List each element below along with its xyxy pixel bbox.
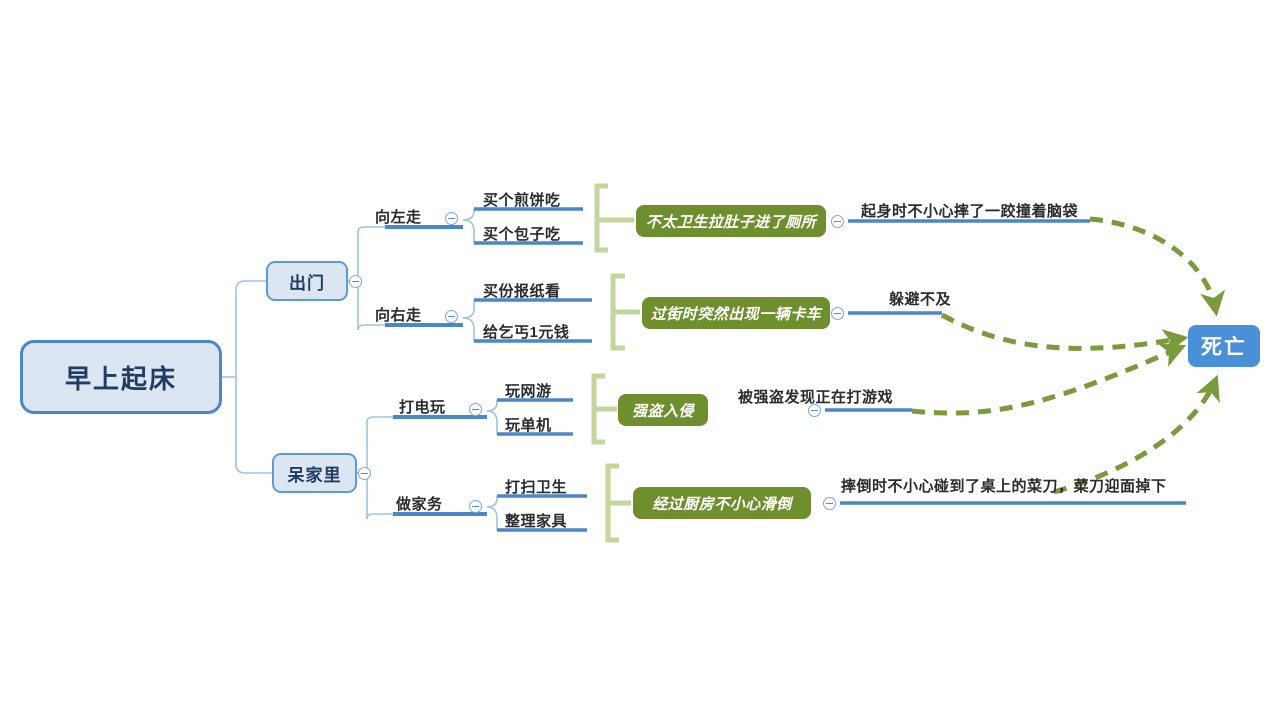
subbranch-label-xiangzuozou[interactable]: 向左走 — [375, 206, 422, 227]
level3-underlines — [385, 227, 487, 514]
minus-circle-icon-daijiali[interactable] — [358, 467, 371, 480]
event-node-kitchen-slip[interactable]: 经过厨房不小心滑倒 — [633, 487, 811, 519]
minus-circle-icon-event-truck[interactable] — [831, 307, 844, 320]
xiangzuozou-leaf-connectors — [463, 209, 474, 243]
event-toggle-stems — [808, 221, 840, 503]
zuojiawu-leaf-connectors — [487, 496, 497, 530]
death-arrow-head-injury — [1090, 219, 1216, 312]
outcome-label-knife[interactable]: 摔倒时不小心碰到了桌上的菜刀，菜刀迎面掉下 — [841, 475, 1167, 496]
death-arrow-truck — [942, 315, 1184, 348]
event-node-label: 经过厨房不小心滑倒 — [652, 493, 792, 514]
dadianwan-leaf-connectors — [487, 400, 497, 434]
minus-circle-icon-xiangzuozou[interactable] — [445, 212, 458, 225]
death-arrows — [912, 219, 1216, 492]
minus-circle-icon-dadianwan[interactable] — [469, 403, 482, 416]
event-node-label: 过街时突然出现一辆卡车 — [651, 303, 822, 324]
leaf-label[interactable]: 给乞丐1元钱 — [483, 321, 569, 342]
minus-circle-icon-chumen[interactable] — [349, 275, 362, 288]
branch-node-label: 出门 — [289, 269, 325, 294]
event-outcome-underlines — [825, 221, 1186, 503]
minus-circle-icon-zuojiawu[interactable] — [469, 500, 482, 513]
branch-node-daijiali[interactable]: 呆家里 — [272, 453, 357, 493]
outcome-label-truck[interactable]: 躲避不及 — [889, 288, 951, 309]
root-node[interactable]: 早上起床 — [20, 340, 222, 414]
leaf-label[interactable]: 买个煎饼吃 — [483, 189, 561, 210]
outcome-label-robber[interactable]: 被强盗发现正在打游戏 — [738, 386, 893, 407]
group-brackets — [594, 186, 640, 540]
outcome-label-head-injury[interactable]: 起身时不小心摔了一跤撞着脑袋 — [861, 200, 1078, 221]
end-node-death[interactable]: 死亡 — [1188, 325, 1260, 367]
leaf-label[interactable]: 玩单机 — [505, 414, 552, 435]
end-node-label: 死亡 — [1201, 331, 1247, 361]
event-node-truck[interactable]: 过街时突然出现一辆卡车 — [642, 297, 830, 329]
minus-circle-icon-event-toilet[interactable] — [831, 215, 844, 228]
subbranch-label-dadianwan[interactable]: 打电玩 — [399, 396, 446, 417]
leaf-label[interactable]: 买个包子吃 — [483, 223, 561, 244]
event-node-label: 不太卫生拉肚子进了厕所 — [646, 211, 817, 232]
minus-circle-icon-event-kitchen[interactable] — [823, 497, 836, 510]
minus-circle-icon-xiangyouzou[interactable] — [445, 310, 458, 323]
leaf-label[interactable]: 整理家具 — [505, 510, 567, 531]
subbranch-label-xiangyouzou[interactable]: 向右走 — [375, 304, 422, 325]
event-node-robber[interactable]: 强盗入侵 — [618, 394, 708, 426]
event-node-label: 强盗入侵 — [632, 400, 694, 421]
subbranch-label-zuojiawu[interactable]: 做家务 — [396, 493, 443, 514]
root-node-label: 早上起床 — [65, 359, 177, 396]
branch-node-chumen[interactable]: 出门 — [266, 261, 348, 301]
leaf-label[interactable]: 玩网游 — [505, 380, 552, 401]
root-to-branch-connectors — [222, 281, 272, 473]
leaf-label[interactable]: 买份报纸看 — [483, 280, 561, 301]
death-arrow-robber — [912, 347, 1182, 413]
event-node-toilet[interactable]: 不太卫生拉肚子进了厕所 — [636, 205, 826, 237]
xiangyouzou-leaf-connectors — [463, 300, 474, 341]
branch-node-label: 呆家里 — [288, 461, 342, 486]
leaf-label[interactable]: 打扫卫生 — [505, 476, 567, 497]
mindmap-canvas: 早上起床 出门 呆家里 向左走 向右走 打电玩 做家务 买个煎饼吃 买个包子吃 … — [0, 0, 1280, 720]
